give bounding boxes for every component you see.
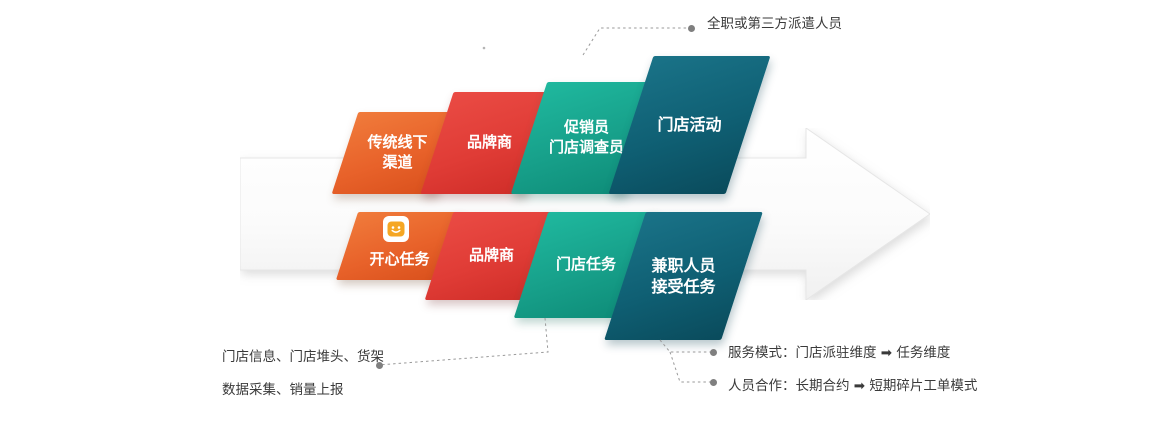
annotation-bottom-right-line1: 服务模式：门店派驻维度 ➡ 任务维度 xyxy=(728,343,977,365)
annotation-bottom-left-line1: 门店信息、门店堆头、货架 xyxy=(222,347,384,369)
leader-lines xyxy=(0,0,1150,430)
annotation-top-right-text: 全职或第三方派遣人员 xyxy=(707,16,842,32)
leader-dot-bottom-right-2 xyxy=(710,379,717,386)
annotation-bottom-left-line2: 数据采集、销量上报 xyxy=(222,380,384,402)
annotation-bottom-left: 门店信息、门店堆头、货架 数据采集、销量上报 xyxy=(222,347,384,401)
diagram-canvas: 传统线下 渠道 品牌商 促销员 门店调查员 门店活动 xyxy=(0,0,1150,430)
leader-dot-bottom-right-1 xyxy=(710,349,717,356)
annotation-top-right: 全职或第三方派遣人员 xyxy=(707,14,842,36)
annotation-bottom-right: 服务模式：门店派驻维度 ➡ 任务维度 人员合作：长期合约 ➡ 短期碎片工单模式 xyxy=(728,343,977,397)
leader-dot-top-right xyxy=(688,25,695,32)
annotation-bottom-right-line2: 人员合作：长期合约 ➡ 短期碎片工单模式 xyxy=(728,376,977,398)
